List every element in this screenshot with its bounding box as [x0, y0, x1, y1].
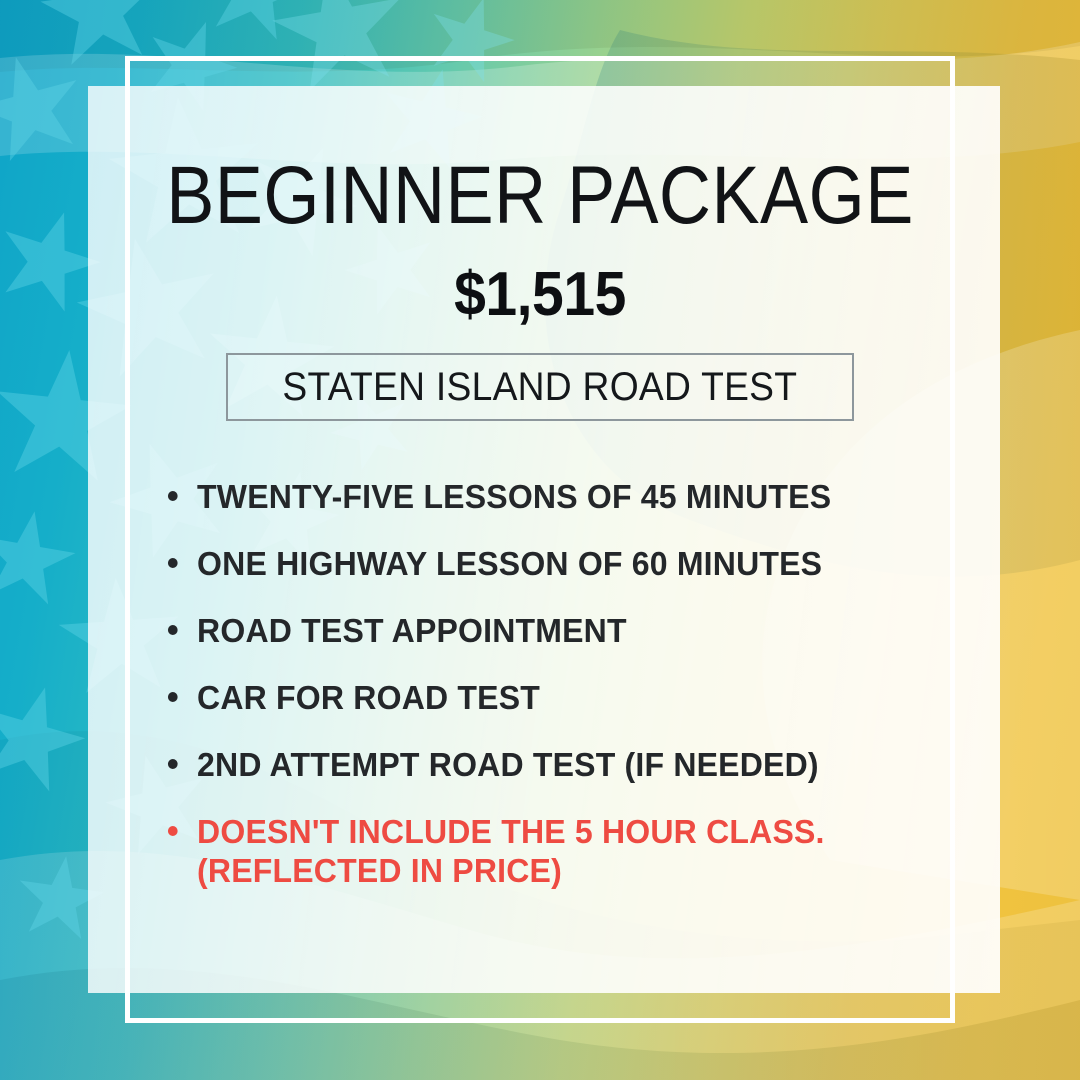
bullet-dot-icon: [168, 692, 178, 702]
feature-list: TWENTY-FIVE LESSONS OF 45 MINUTES ONE HI…: [166, 478, 986, 919]
feature-text: CAR FOR ROAD TEST: [197, 679, 540, 716]
feature-text: ONE HIGHWAY LESSON OF 60 MINUTES: [197, 545, 822, 582]
feature-text: ROAD TEST APPOINTMENT: [197, 612, 627, 649]
bullet-dot-icon: [168, 491, 178, 501]
card-content: BEGINNER PACKAGE $1,515 STATEN ISLAND RO…: [0, 0, 1080, 1080]
promo-graphic: BEGINNER PACKAGE $1,515 STATEN ISLAND RO…: [0, 0, 1080, 1080]
location-badge: STATEN ISLAND ROAD TEST: [226, 353, 854, 421]
feature-item-exclusion: DOESN'T INCLUDE THE 5 HOUR CLASS. (REFLE…: [166, 813, 961, 891]
feature-item: CAR FOR ROAD TEST: [166, 679, 961, 718]
feature-item: ONE HIGHWAY LESSON OF 60 MINUTES: [166, 545, 961, 584]
package-price: $1,515: [43, 264, 1037, 326]
location-label: STATEN ISLAND ROAD TEST: [283, 367, 798, 407]
feature-item: 2ND ATTEMPT ROAD TEST (IF NEEDED): [166, 746, 961, 785]
bullet-dot-icon: [168, 826, 178, 836]
exclusion-text-line1: DOESN'T INCLUDE THE 5 HOUR CLASS.: [197, 813, 825, 850]
exclusion-text-line2: (REFLECTED IN PRICE): [197, 852, 961, 891]
feature-text: TWENTY-FIVE LESSONS OF 45 MINUTES: [197, 478, 831, 515]
bullet-dot-icon: [168, 759, 178, 769]
feature-text: 2ND ATTEMPT ROAD TEST (IF NEEDED): [197, 746, 819, 783]
bullet-dot-icon: [168, 625, 178, 635]
feature-item: TWENTY-FIVE LESSONS OF 45 MINUTES: [166, 478, 961, 517]
package-title: BEGINNER PACKAGE: [65, 155, 1015, 237]
feature-item: ROAD TEST APPOINTMENT: [166, 612, 961, 651]
bullet-dot-icon: [168, 558, 178, 568]
